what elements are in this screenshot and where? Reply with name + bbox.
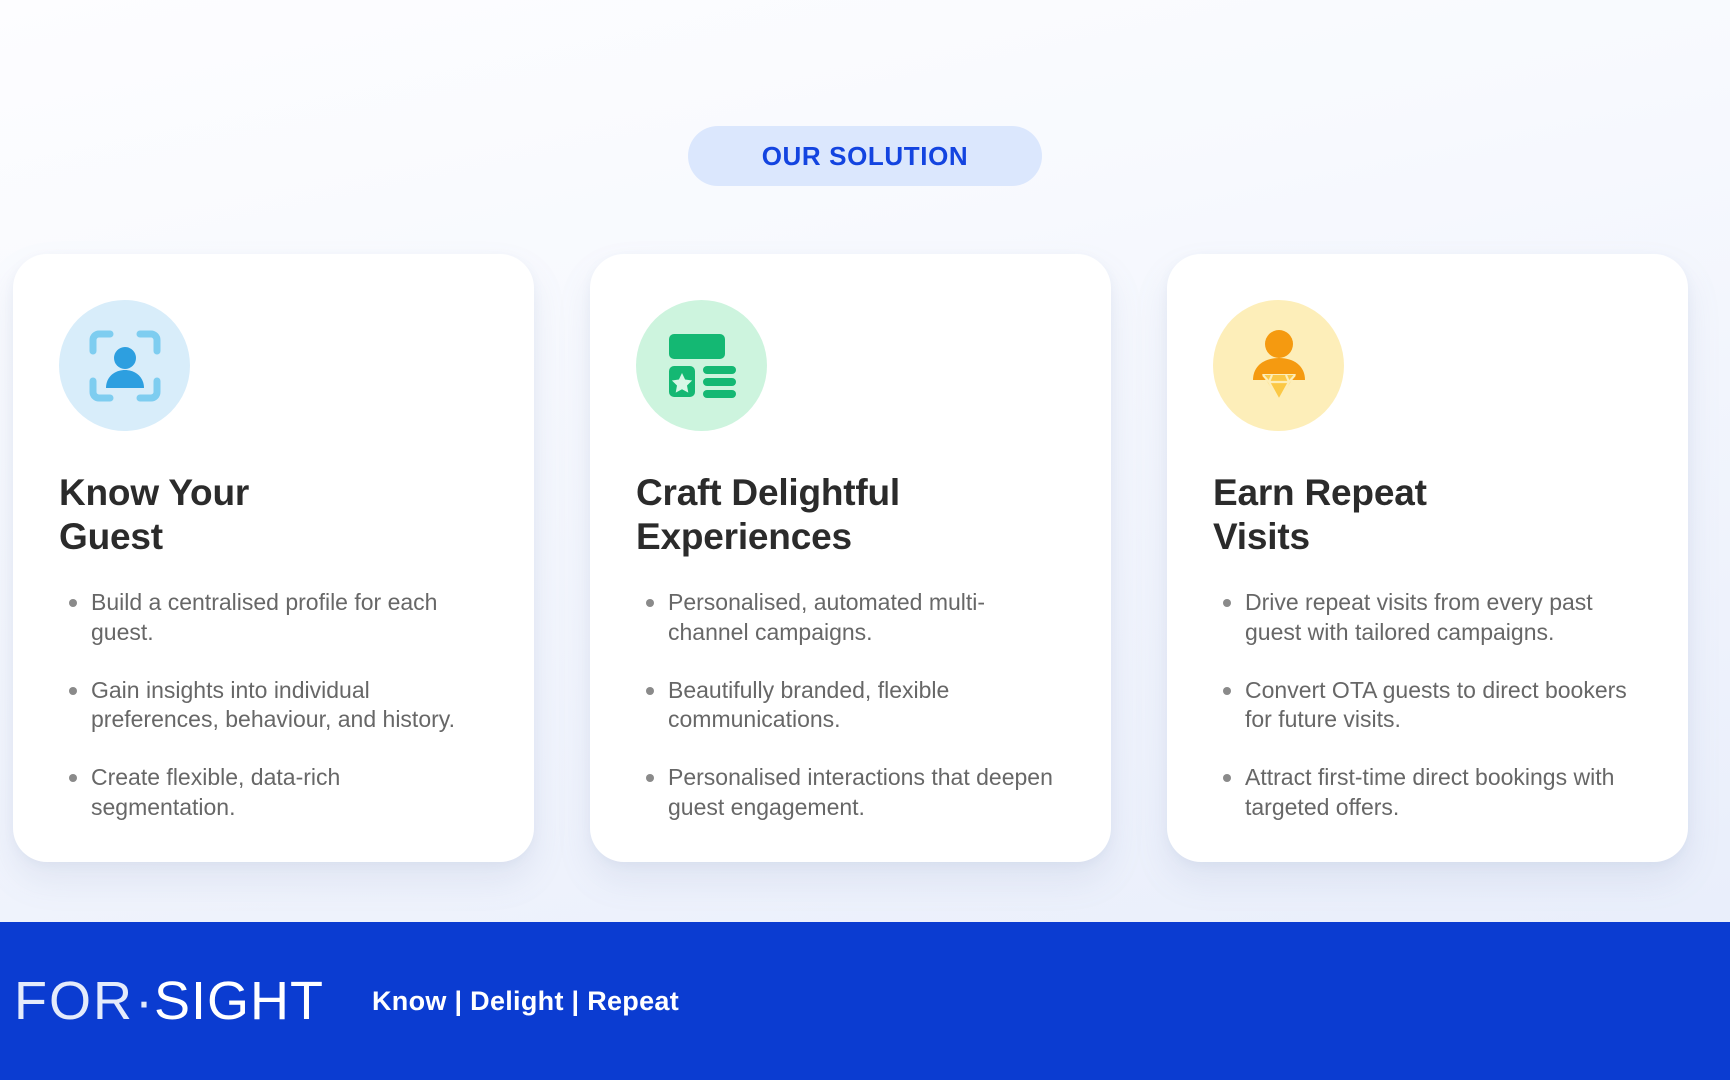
- vip-guest-diamond-icon-circle: [1213, 300, 1344, 431]
- branded-content-card-icon-circle: [636, 300, 767, 431]
- card-bullet-list: Build a centralised profile for each gue…: [59, 588, 488, 822]
- list-item: Drive repeat visits from every past gues…: [1213, 588, 1642, 647]
- branded-content-card-icon: [666, 332, 738, 400]
- logo-text-for: FOR: [14, 974, 134, 1028]
- card-title: Earn Repeat Visits: [1213, 471, 1642, 558]
- person-scan-icon-circle: [59, 300, 190, 431]
- list-item: Attract first-time direct bookings with …: [1213, 763, 1642, 822]
- person-scan-icon: [86, 327, 164, 405]
- card-title: Craft Delightful Experiences: [636, 471, 1065, 558]
- our-solution-badge: OUR SOLUTION: [688, 126, 1043, 186]
- footer-tagline: Know | Delight | Repeat: [372, 986, 679, 1017]
- list-item: Create flexible, data-rich segmentation.: [59, 763, 488, 822]
- card-title: Know Your Guest: [59, 471, 488, 558]
- vip-guest-diamond-icon: [1241, 327, 1317, 405]
- card-know-your-guest[interactable]: Know Your Guest Build a centralised prof…: [13, 254, 534, 862]
- footer-bar: FOR · SIGHT Know | Delight | Repeat: [0, 922, 1730, 1080]
- logo-text-sight: SIGHT: [154, 974, 324, 1028]
- list-item: Convert OTA guests to direct bookers for…: [1213, 676, 1642, 735]
- badge-container: OUR SOLUTION: [0, 126, 1730, 186]
- list-item: Gain insights into individual preference…: [59, 676, 488, 735]
- list-item: Personalised, automated multi-channel ca…: [636, 588, 1065, 647]
- card-bullet-list: Personalised, automated multi-channel ca…: [636, 588, 1065, 822]
- solution-cards-row: Know Your Guest Build a centralised prof…: [13, 254, 1730, 862]
- list-item: Personalised interactions that deepen gu…: [636, 763, 1065, 822]
- forsight-logo[interactable]: FOR · SIGHT: [14, 974, 324, 1028]
- list-item: Build a centralised profile for each gue…: [59, 588, 488, 647]
- logo-separator-dot: ·: [135, 974, 153, 1028]
- card-earn-repeat-visits[interactable]: Earn Repeat Visits Drive repeat visits f…: [1167, 254, 1688, 862]
- solution-slide: OUR SOLUTION Know Your Guest B: [0, 0, 1730, 1080]
- list-item: Beautifully branded, flexible communicat…: [636, 676, 1065, 735]
- card-craft-delightful-experiences[interactable]: Craft Delightful Experiences Personalise…: [590, 254, 1111, 862]
- card-bullet-list: Drive repeat visits from every past gues…: [1213, 588, 1642, 822]
